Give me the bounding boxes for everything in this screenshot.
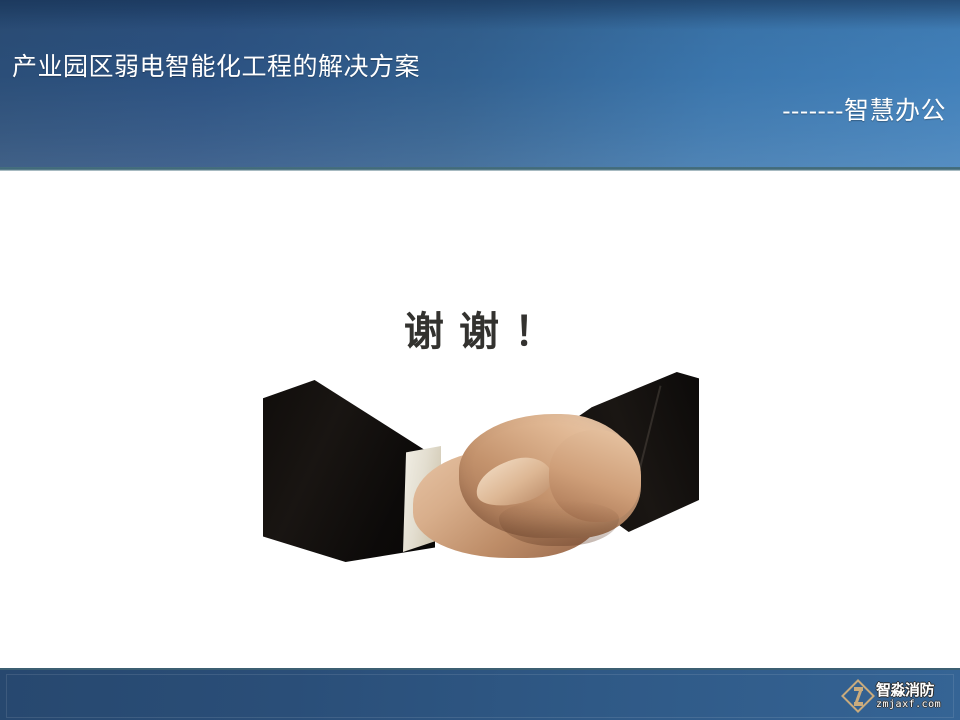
- watermark-text-group: 智淼消防 zmjaxf.com: [876, 683, 941, 710]
- handshake-image: [263, 372, 699, 562]
- watermark: 智淼消防 zmjaxf.com: [843, 678, 955, 714]
- slide-subtitle: -------智慧办公: [782, 96, 946, 126]
- watermark-brand-name: 智淼消防: [876, 683, 941, 698]
- header-sheen-overlay: [0, 0, 960, 30]
- slide-header-band: 产业园区弱电智能化工程的解决方案 -------智慧办公: [0, 0, 960, 167]
- thank-you-text: 谢 谢 ！: [0, 308, 960, 356]
- slide-title: 产业园区弱电智能化工程的解决方案: [12, 52, 420, 82]
- footer-inner-border: [6, 674, 954, 718]
- watermark-url: zmjaxf.com: [876, 700, 941, 710]
- slide-footer-band: [0, 668, 960, 720]
- diamond-z-logo-icon: [843, 681, 873, 711]
- handshake-finger-shadow: [499, 500, 619, 546]
- presentation-slide: 产业园区弱电智能化工程的解决方案 -------智慧办公 谢 谢 ！ 智淼消防 …: [0, 0, 960, 720]
